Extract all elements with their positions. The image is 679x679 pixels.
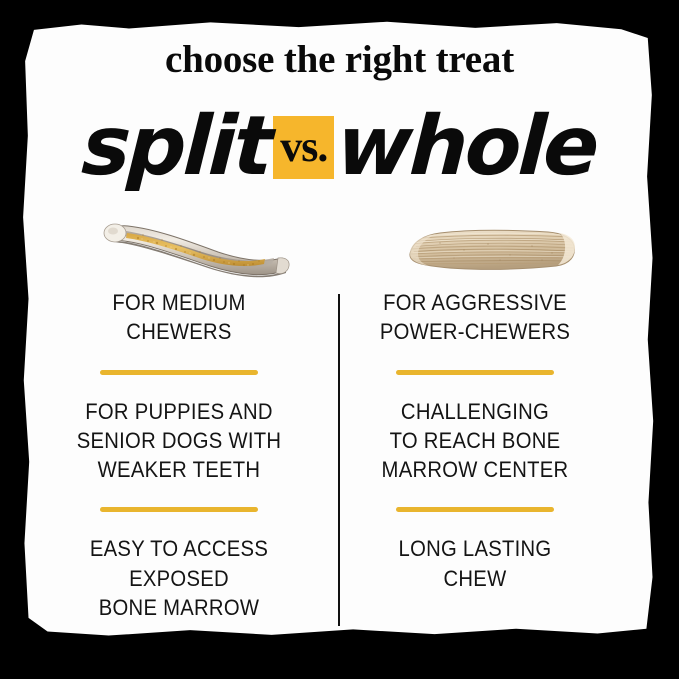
feature-item: FOR PUPPIES AND SENIOR DOGS WITH WEAKER … (37, 397, 321, 485)
feature-item: CHALLENGING TO REACH BONE MARROW CENTER (333, 397, 617, 485)
feature-item: EASY TO ACCESS EXPOSED BONE MARROW (37, 534, 321, 622)
feature-item: FOR MEDIUM CHEWERS (37, 288, 321, 347)
kicker-heading: choose the right treat (0, 40, 679, 79)
title-vs-badge: vs. (273, 116, 334, 179)
whole-antler-image (392, 208, 592, 286)
feature-text: FOR AGGRESSIVE POWER-CHEWERS (347, 288, 603, 347)
feature-divider (100, 507, 258, 512)
column-split: FOR MEDIUM CHEWERS FOR PUPPIES AND SENIO… (37, 288, 321, 622)
split-antler-icon (96, 208, 296, 286)
feature-text: EASY TO ACCESS EXPOSED BONE MARROW (51, 534, 307, 622)
feature-text: CHALLENGING TO REACH BONE MARROW CENTER (347, 397, 603, 485)
feature-text: LONG LASTING CHEW (347, 534, 603, 593)
title-word-whole: whole (335, 108, 598, 186)
infographic-poster: choose the right treat split vs. whole (0, 0, 679, 679)
feature-text: FOR MEDIUM CHEWERS (51, 288, 307, 347)
feature-item: FOR AGGRESSIVE POWER-CHEWERS (333, 288, 617, 347)
title-word-split: split (80, 108, 272, 186)
feature-divider (100, 370, 258, 375)
column-whole: FOR AGGRESSIVE POWER-CHEWERS CHALLENGING… (333, 288, 617, 593)
feature-divider (396, 370, 554, 375)
poster-content: choose the right treat split vs. whole (0, 0, 679, 679)
feature-text: FOR PUPPIES AND SENIOR DOGS WITH WEAKER … (51, 397, 307, 485)
feature-divider (396, 507, 554, 512)
page-title: split vs. whole (0, 99, 679, 195)
feature-item: LONG LASTING CHEW (333, 534, 617, 593)
split-antler-image (96, 208, 296, 286)
whole-antler-icon (392, 208, 592, 286)
